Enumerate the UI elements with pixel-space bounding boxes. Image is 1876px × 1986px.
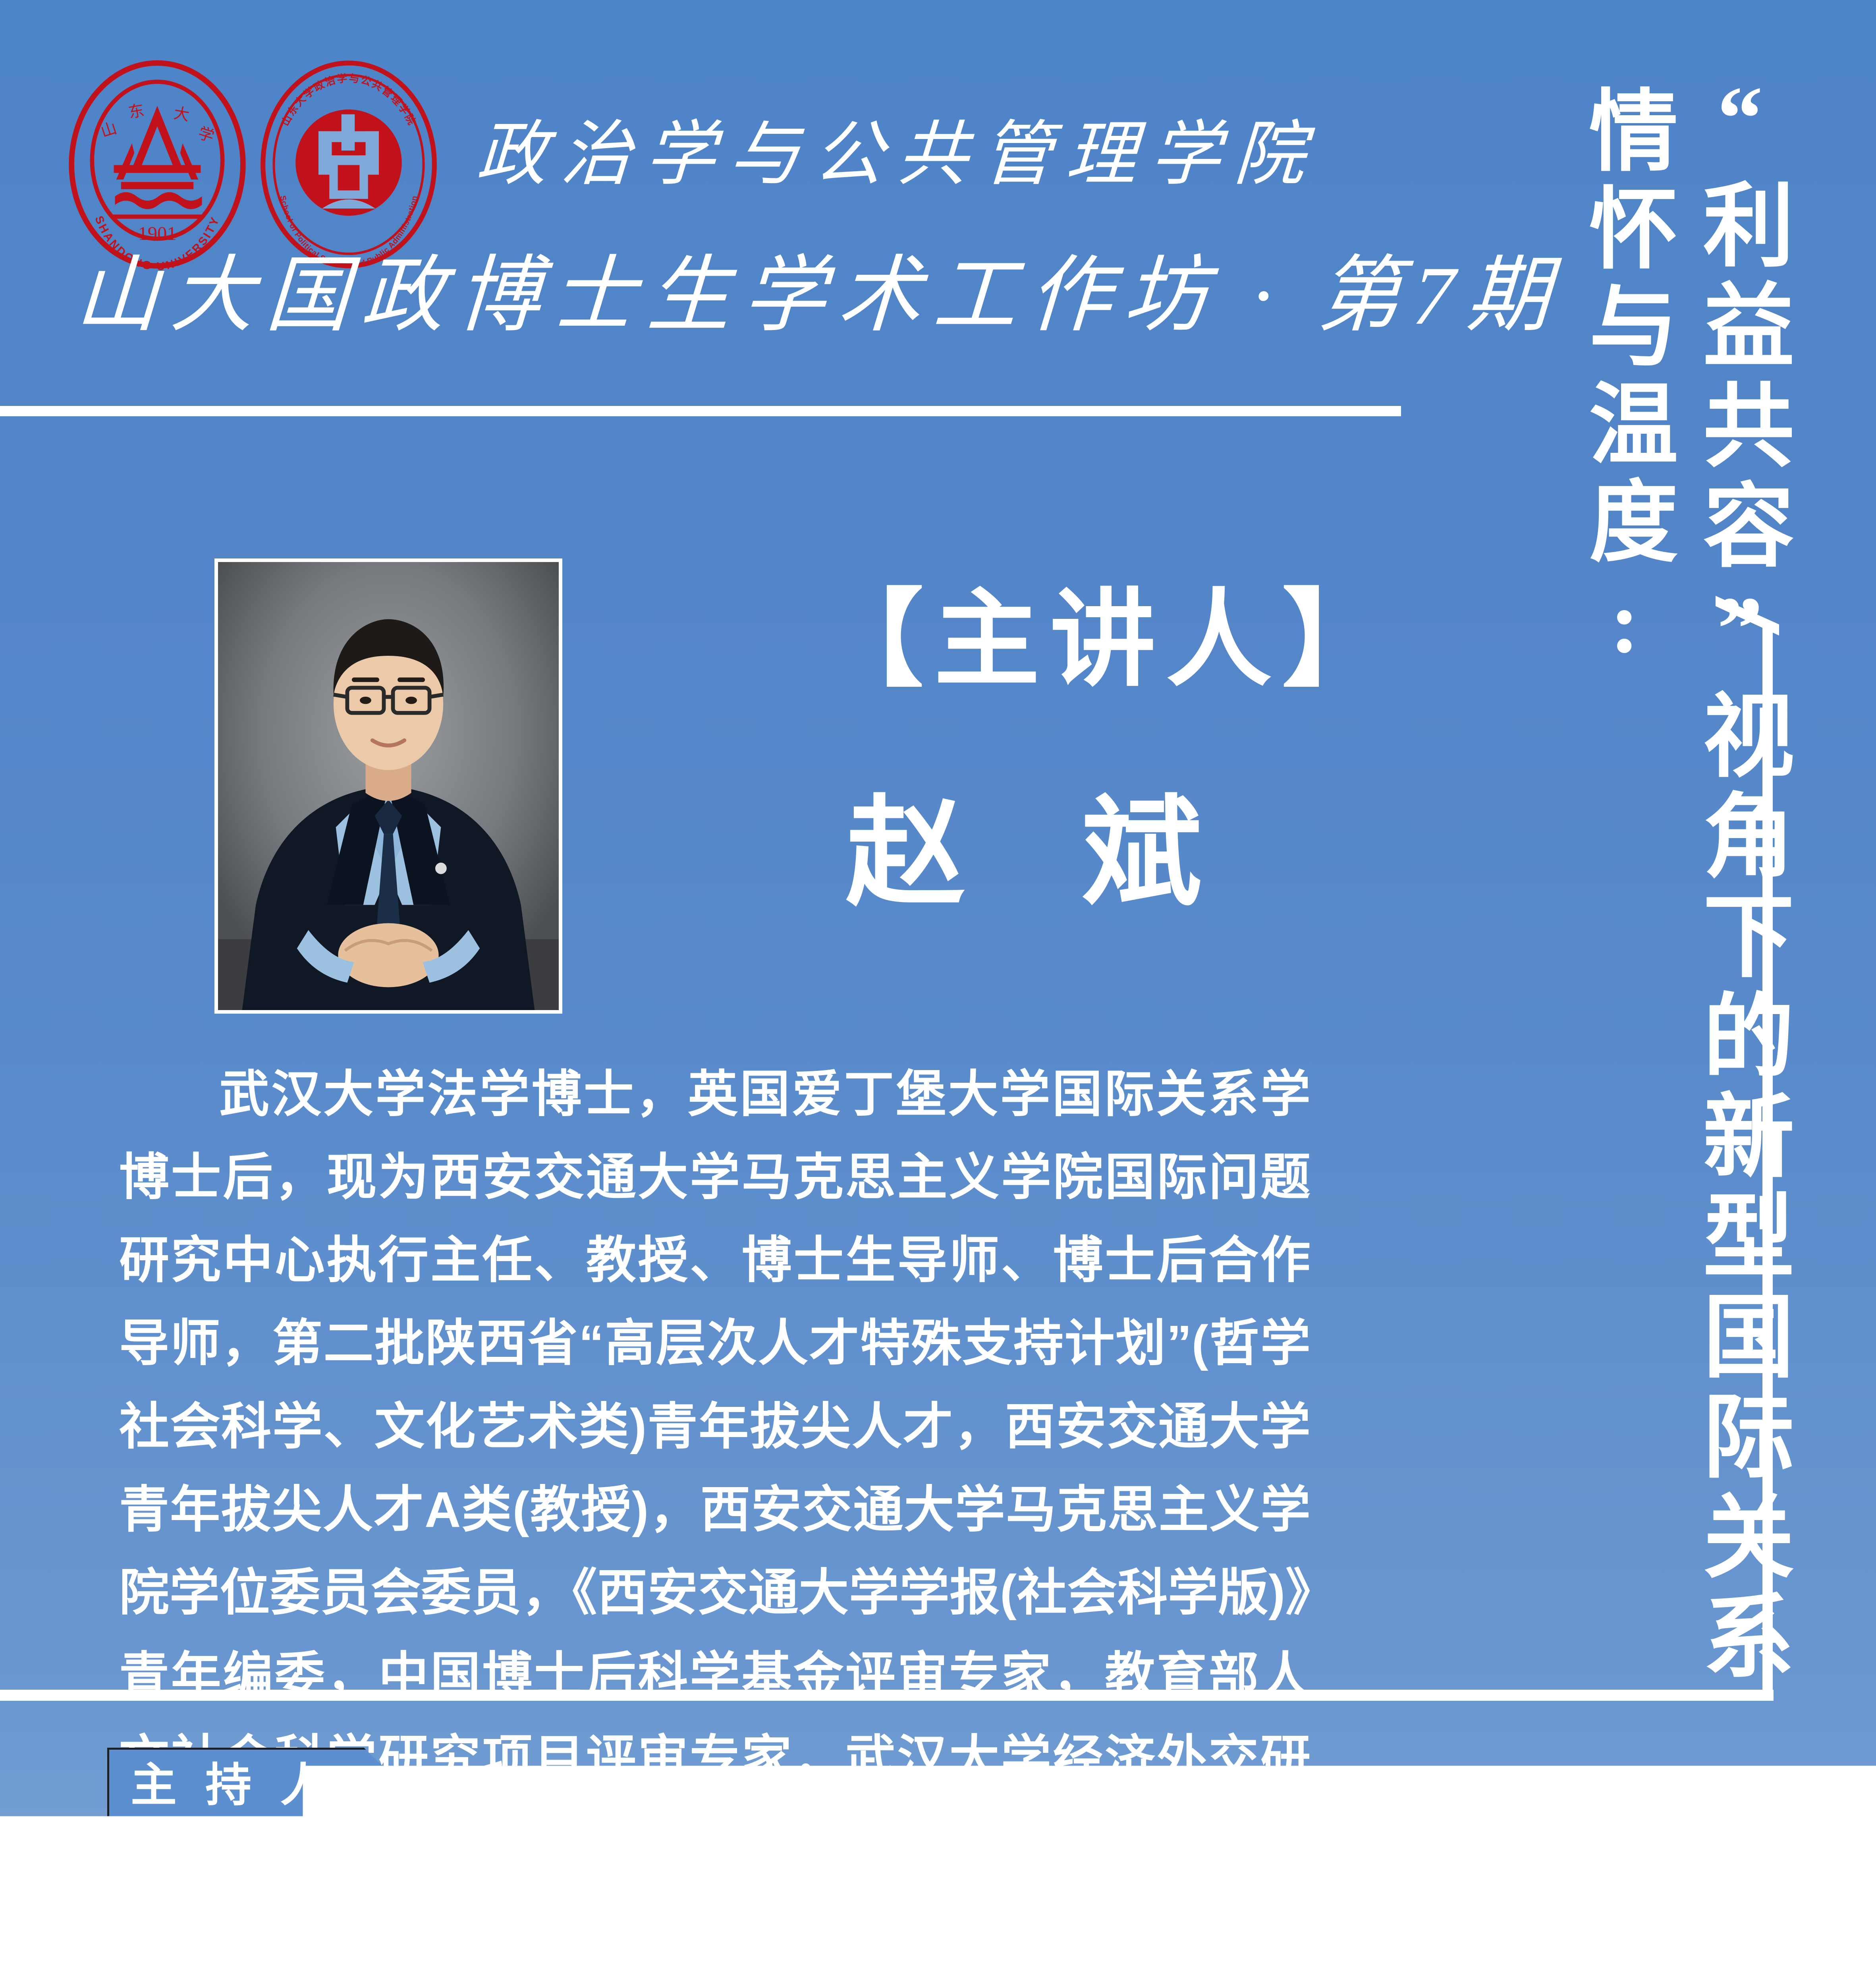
logo-group: 1901 SHANDONG UNIVERSITY 山 东 大 学 [67, 59, 439, 270]
svg-text:学: 学 [196, 124, 216, 145]
svg-text:1901: 1901 [138, 223, 176, 244]
lecture-title-inner: 情怀与温度: [1560, 84, 1689, 680]
event-info-section: 主 持 人 李慧明 山东大学政治学与公共管理学院教授、 博士生导师 讲座地点 华… [107, 1748, 1696, 1986]
poster-root: 1901 SHANDONG UNIVERSITY 山 东 大 学 [0, 0, 1876, 1986]
venue-label-badge: 讲座地点 [107, 1951, 412, 1986]
school-name-title: 政治学与公共管理学院 [475, 119, 1320, 190]
school-of-political-science-logo-icon: 山东大学政治学与公共管理学院 School of Political Scien… [258, 59, 439, 270]
host-value: 李慧明 山东大学政治学与公共管理学院教授、 博士生导师 [113, 1839, 1696, 1917]
svg-text:大: 大 [172, 104, 191, 124]
speaker-portrait [214, 558, 562, 1014]
svg-text:东: 东 [127, 102, 146, 122]
top-divider-line [0, 406, 1401, 416]
speaker-name: 赵 斌 [846, 794, 1245, 914]
shandong-university-logo-icon: 1901 SHANDONG UNIVERSITY 山 东 大 学 [67, 59, 248, 270]
speaker-label: 【主讲人】 [818, 588, 1398, 694]
host-label-badge: 主 持 人 [107, 1748, 400, 1818]
lecture-title-outer: “利益共容”视角下的新型国际关系 [1674, 68, 1806, 1689]
workshop-series-title: 山大国政博士生学术工作坊 · 第7期 [73, 254, 1564, 338]
